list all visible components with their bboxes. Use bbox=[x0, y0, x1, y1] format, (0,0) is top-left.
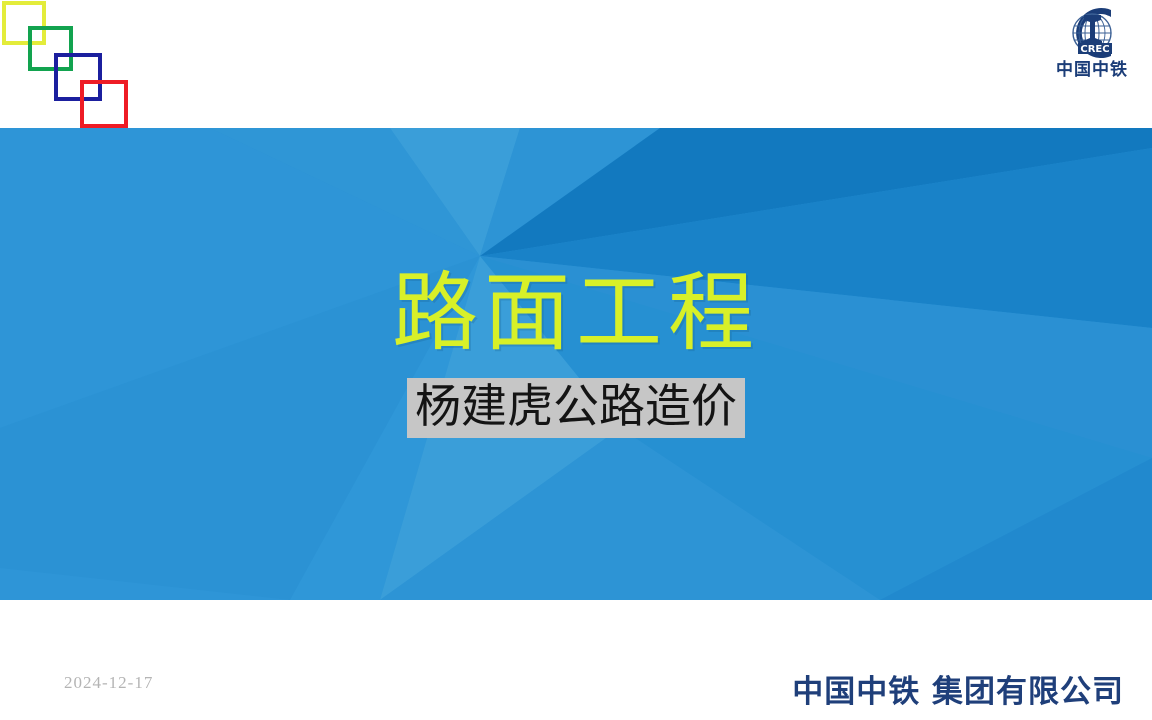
decorative-squares-group bbox=[0, 0, 150, 135]
slide-date: 2024-12-17 bbox=[64, 673, 153, 693]
company-logo: CREC 中国中铁 bbox=[1040, 2, 1144, 98]
title-banner: 路面工程 杨建虎公路造价 bbox=[0, 128, 1152, 600]
red-square bbox=[80, 80, 128, 128]
crec-globe-rail-logo: CREC bbox=[1054, 2, 1132, 64]
svg-text:CREC: CREC bbox=[1080, 44, 1109, 55]
low-poly-background bbox=[0, 128, 1152, 600]
presentation-slide: CREC 中国中铁 bbox=[0, 0, 1152, 720]
logo-company-name-cn: 中国中铁 bbox=[1040, 62, 1144, 79]
footer-company-name: 中国中铁 集团有限公司 bbox=[792, 666, 1124, 711]
